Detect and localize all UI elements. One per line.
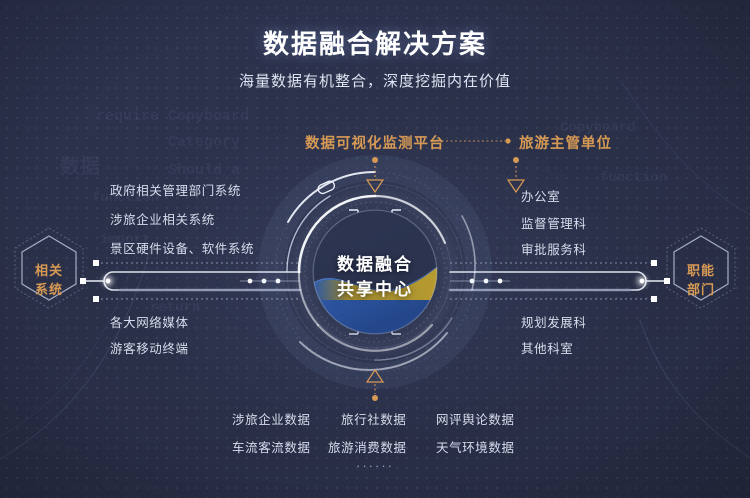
left-source-item[interactable]: 涉旅企业相关系统 bbox=[110, 209, 215, 228]
bottom-ellipsis: ······ bbox=[0, 458, 750, 473]
left-source-item[interactable]: 游客移动终端 bbox=[110, 338, 189, 357]
right-department-item[interactable]: 其他科室 bbox=[521, 338, 573, 357]
left-source-item[interactable]: 政府相关管理部门系统 bbox=[110, 180, 241, 199]
right-badge-line2: 部门 bbox=[666, 280, 736, 299]
core-line2: 共享中心 bbox=[305, 277, 445, 302]
right-department-item[interactable]: 监督管理科 bbox=[521, 213, 587, 232]
label-tourism-authority[interactable]: 旅游主管单位 bbox=[519, 132, 612, 153]
left-badge-label[interactable]: 相关 系统 bbox=[14, 261, 84, 299]
left-source-item[interactable]: 景区硬件设备、软件系统 bbox=[110, 238, 254, 257]
left-badge-line2: 系统 bbox=[14, 280, 84, 299]
bottom-data-item[interactable]: 旅游消费数据 bbox=[328, 437, 407, 456]
bottom-data-item[interactable]: 旅行社数据 bbox=[341, 409, 407, 428]
bottom-data-item[interactable]: 天气环境数据 bbox=[436, 437, 515, 456]
top-label-connector bbox=[437, 138, 511, 143]
bottom-data-item[interactable]: 涉旅企业数据 bbox=[232, 409, 311, 428]
page-title: 数据融合解决方案 bbox=[0, 24, 750, 61]
right-department-item[interactable]: 规划发展科 bbox=[521, 312, 587, 331]
right-department-item[interactable]: 审批服务科 bbox=[521, 239, 587, 258]
left-source-item[interactable]: 各大网络媒体 bbox=[110, 312, 189, 331]
left-badge-line1: 相关 bbox=[14, 261, 84, 280]
label-visualization-platform[interactable]: 数据可视化监测平台 bbox=[305, 132, 445, 153]
bottom-data-item[interactable]: 车流客流数据 bbox=[232, 437, 311, 456]
right-badge-line1: 职能 bbox=[666, 261, 736, 280]
page-subtitle: 海量数据有机整合，深度挖掘内在价值 bbox=[0, 70, 750, 91]
right-badge-label[interactable]: 职能 部门 bbox=[666, 261, 736, 299]
infographic-canvas: require Copyboard Category Should a func… bbox=[0, 0, 750, 498]
core-sphere-label: 数据融合 共享中心 bbox=[305, 252, 445, 302]
right-department-item[interactable]: 办公室 bbox=[521, 186, 560, 205]
core-line1: 数据融合 bbox=[305, 252, 445, 277]
bottom-data-item[interactable]: 网评舆论数据 bbox=[436, 409, 515, 428]
